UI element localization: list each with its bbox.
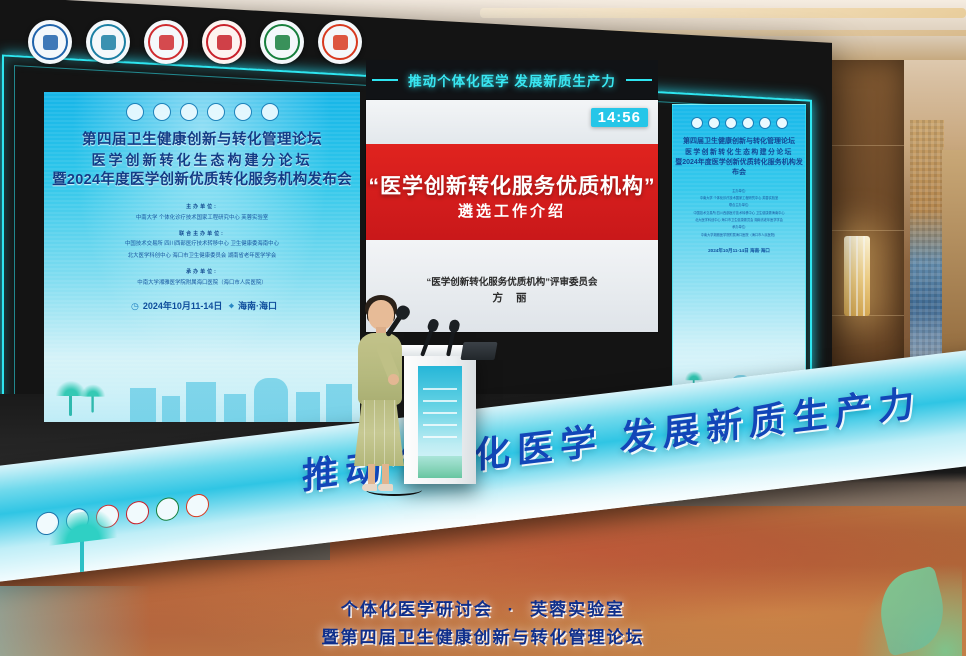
banner-dash-right	[626, 79, 652, 81]
right-poster-title-line1: 第四届卫生健康创新与转化管理论坛	[673, 137, 805, 148]
right-poster-panel: 第四届卫生健康创新与转化管理论坛 医学创新转化生态构建分论坛 暨2024年度医学…	[672, 104, 806, 406]
right-poster-organizers: 主办单位: 中南大学 个体化诊疗技术国家工程研究中心 芙蓉实验室 联合主办单位:…	[673, 188, 805, 240]
right-poster-icon-row	[673, 105, 805, 129]
poster-organizer-value: 中南大学湘雅医学院附属海口医院（海口市人民医院）	[44, 278, 360, 289]
caption-line-1: 个体化医学研讨会 · 芙蓉实验室	[0, 595, 966, 620]
poster-icon-1	[126, 103, 144, 121]
slide-title: “医学创新转化服务优质机构”	[366, 170, 658, 200]
speaker-leg-right	[382, 464, 389, 486]
logo-medical-association-blue	[86, 20, 130, 64]
slide-committee: “医学创新转化服务优质机构”评审委员会	[366, 274, 658, 288]
speaker-shoe-right	[378, 484, 393, 491]
poster-location: 海南·海口	[238, 301, 277, 311]
right-poster-organizer-value: 中南大学湘雅医学院附属海口医院（海口市人民医院）	[673, 232, 805, 239]
caption-line-2: 暨第四届卫生健康创新与转化管理论坛	[0, 623, 966, 648]
caption-line1-left: 个体化医学研讨会	[341, 600, 493, 619]
led-top-banner-text: 推动个体化医学 发展新质生产力	[408, 70, 616, 90]
conference-stage-photo: 第四届卫生健康创新与转化管理论坛 医学创新转化生态构建分论坛 暨2024年度医学…	[0, 0, 966, 656]
poster-icon-6	[261, 103, 279, 121]
logo-emergency-orange	[318, 20, 362, 64]
logo-central-south-university	[28, 20, 72, 64]
speaker-skirt	[354, 400, 404, 466]
poster-title-line3: 暨2024年度医学创新优质转化服务机构发布会	[44, 170, 360, 191]
crystal-sconce-light	[844, 236, 870, 316]
right-poster-title-line3: 暨2024年度医学创新优质转化服务机构发布会	[673, 158, 805, 179]
right-poster-title-line2: 医学创新转化生态构建分论坛	[673, 148, 805, 158]
right-poster-host-label: 主办单位:	[673, 188, 805, 195]
led-top-banner: 推动个体化医学 发展新质生产力	[366, 60, 658, 100]
logo-health-commission-green	[260, 20, 304, 64]
poster-title-line2: 医学创新转化生态构建分论坛	[44, 151, 360, 171]
logo-university-gate-1914-2024	[202, 20, 246, 64]
poster-date: 2024年10月11-14日	[143, 301, 223, 311]
ceiling-light-strip	[480, 8, 966, 18]
poster-cohost-label: 联合主办单位:	[44, 229, 360, 240]
poster-host-label: 主办单位:	[44, 202, 360, 213]
right-poster-cohost-label: 联合主办单位:	[673, 202, 805, 209]
speaker-leg-left	[368, 464, 375, 486]
right-poster-cohost-line1: 中国技术交易所 四川西部医疗技术转移中心 卫生健康委海南中心	[673, 210, 805, 217]
map-pin-icon: ⌖	[229, 301, 234, 311]
right-poster-organizer-label: 承办单位:	[673, 224, 805, 231]
clock-icon: ◷	[131, 301, 139, 311]
poster-icon-2	[153, 103, 171, 121]
right-poster-title: 第四届卫生健康创新与转化管理论坛 医学创新转化生态构建分论坛 暨2024年度医学…	[673, 137, 805, 179]
left-poster-panel: 第四届卫生健康创新与转化管理论坛 医学创新转化生态构建分论坛 暨2024年度医学…	[44, 92, 360, 422]
palm-tree-icon-2	[81, 385, 105, 412]
poster-icon-row	[44, 92, 360, 121]
banner-logo-4	[126, 500, 149, 526]
poster-title: 第四届卫生健康创新与转化管理论坛 医学创新转化生态构建分论坛 暨2024年度医学…	[44, 130, 360, 191]
poster-organizer-label: 承办单位:	[44, 267, 360, 278]
countdown-timer: 14:56	[591, 108, 648, 127]
right-poster-host-value: 中南大学 个体化诊疗技术国家工程研究中心 芙蓉实验室	[673, 195, 805, 202]
poster-cohost-line1: 中国技术交易所 四川西部医疗技术转移中心 卫生健康委海南中心	[44, 239, 360, 250]
poster-footer: ◷2024年10月11-14日 ⌖海南·海口	[44, 299, 360, 312]
poster-cohost-line2: 北大医学科创中心 海口市卫生健康委员会 湖南省老年医学学会	[44, 251, 360, 262]
poster-title-line1: 第四届卫生健康创新与转化管理论坛	[44, 130, 360, 151]
banner-dash-left	[372, 79, 398, 81]
overlay-caption: 个体化医学研讨会 · 芙蓉实验室 暨第四届卫生健康创新与转化管理论坛	[0, 595, 966, 648]
poster-host-value: 中南大学 个体化诊疗技术国家工程研究中心 芙蓉实验室	[44, 213, 360, 224]
slide-band-red: “医学创新转化服务优质机构” 遴选工作介绍	[366, 144, 658, 240]
caption-separator: ·	[508, 600, 516, 619]
poster-skyline-graphic	[44, 360, 360, 422]
right-poster-cohost-line2: 北大医学科创中心 海口市卫生健康委员会 湖南省老年医学学会	[673, 217, 805, 224]
speaking-podium	[404, 352, 476, 484]
podium-skyline	[418, 456, 462, 478]
speaker-person	[352, 300, 410, 490]
slide-subtitle: 遴选工作介绍	[366, 200, 658, 221]
speaker-hand	[388, 374, 399, 385]
banner-logo-5	[156, 496, 179, 522]
speaker-shoe-left	[362, 484, 377, 491]
presentation-slide: 14:56 “医学创新转化服务优质机构” 遴选工作介绍 “医学创新转化服务优质机…	[366, 100, 658, 332]
poster-icon-4	[207, 103, 225, 121]
poster-icon-3	[180, 103, 198, 121]
banner-logo-6	[186, 493, 209, 519]
right-poster-footer: 2024年10月11-14日 海南·海口	[673, 248, 805, 254]
podium-laptop	[460, 342, 497, 360]
institution-logo-row	[18, 18, 368, 66]
poster-icon-5	[234, 103, 252, 121]
caption-line1-right: 芙蓉实验室	[530, 600, 625, 619]
logo-medical-red	[144, 20, 188, 64]
poster-organizers: 主办单位: 中南大学 个体化诊疗技术国家工程研究中心 芙蓉实验室 联合主办单位:…	[44, 202, 360, 289]
podium-branding-graphic	[418, 366, 462, 478]
